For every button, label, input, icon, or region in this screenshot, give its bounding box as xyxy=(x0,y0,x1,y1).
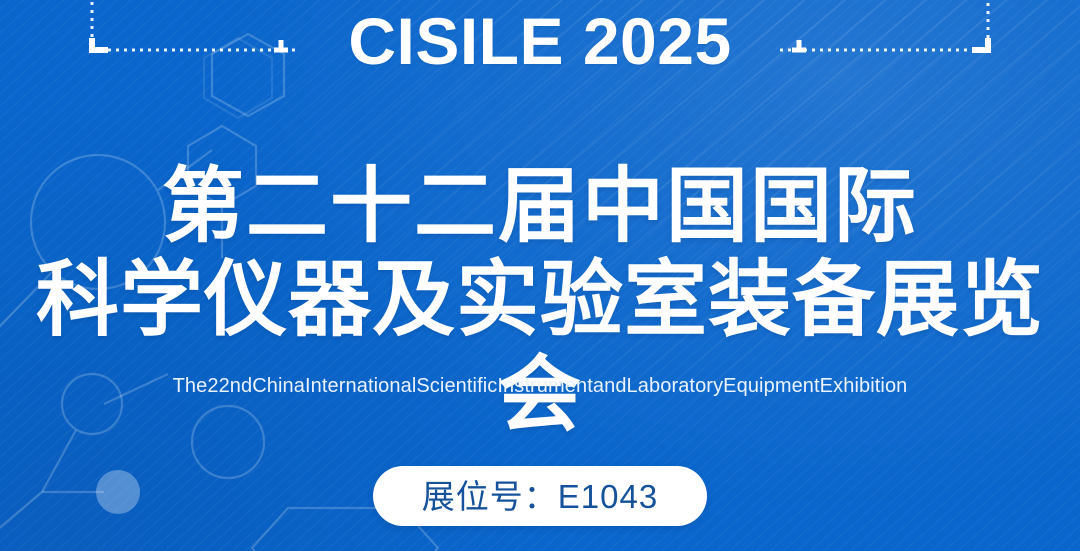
booth-number-label: 展位号：E1043 xyxy=(422,480,658,513)
decor-link-5 xyxy=(0,492,42,551)
main-title-block: 第二十二届中国国际 科学仪器及实验室装备展览会 xyxy=(0,160,1080,443)
booth-number-badge: 展位号：E1043 xyxy=(373,466,707,526)
title-line-2: 科学仪器及实验室装备展览会 xyxy=(0,253,1080,442)
cisile-banner: CISILE 2025 第二十二届中国国际 科学仪器及实验室装备展览会 The2… xyxy=(0,0,1080,551)
event-code-title: CISILE 2025 xyxy=(0,8,1080,74)
title-line-1: 第二十二届中国国际 xyxy=(0,160,1080,253)
decor-node-filled xyxy=(96,470,140,514)
subtitle-english: The22ndChinaInternationalScientificInstr… xyxy=(0,375,1080,398)
